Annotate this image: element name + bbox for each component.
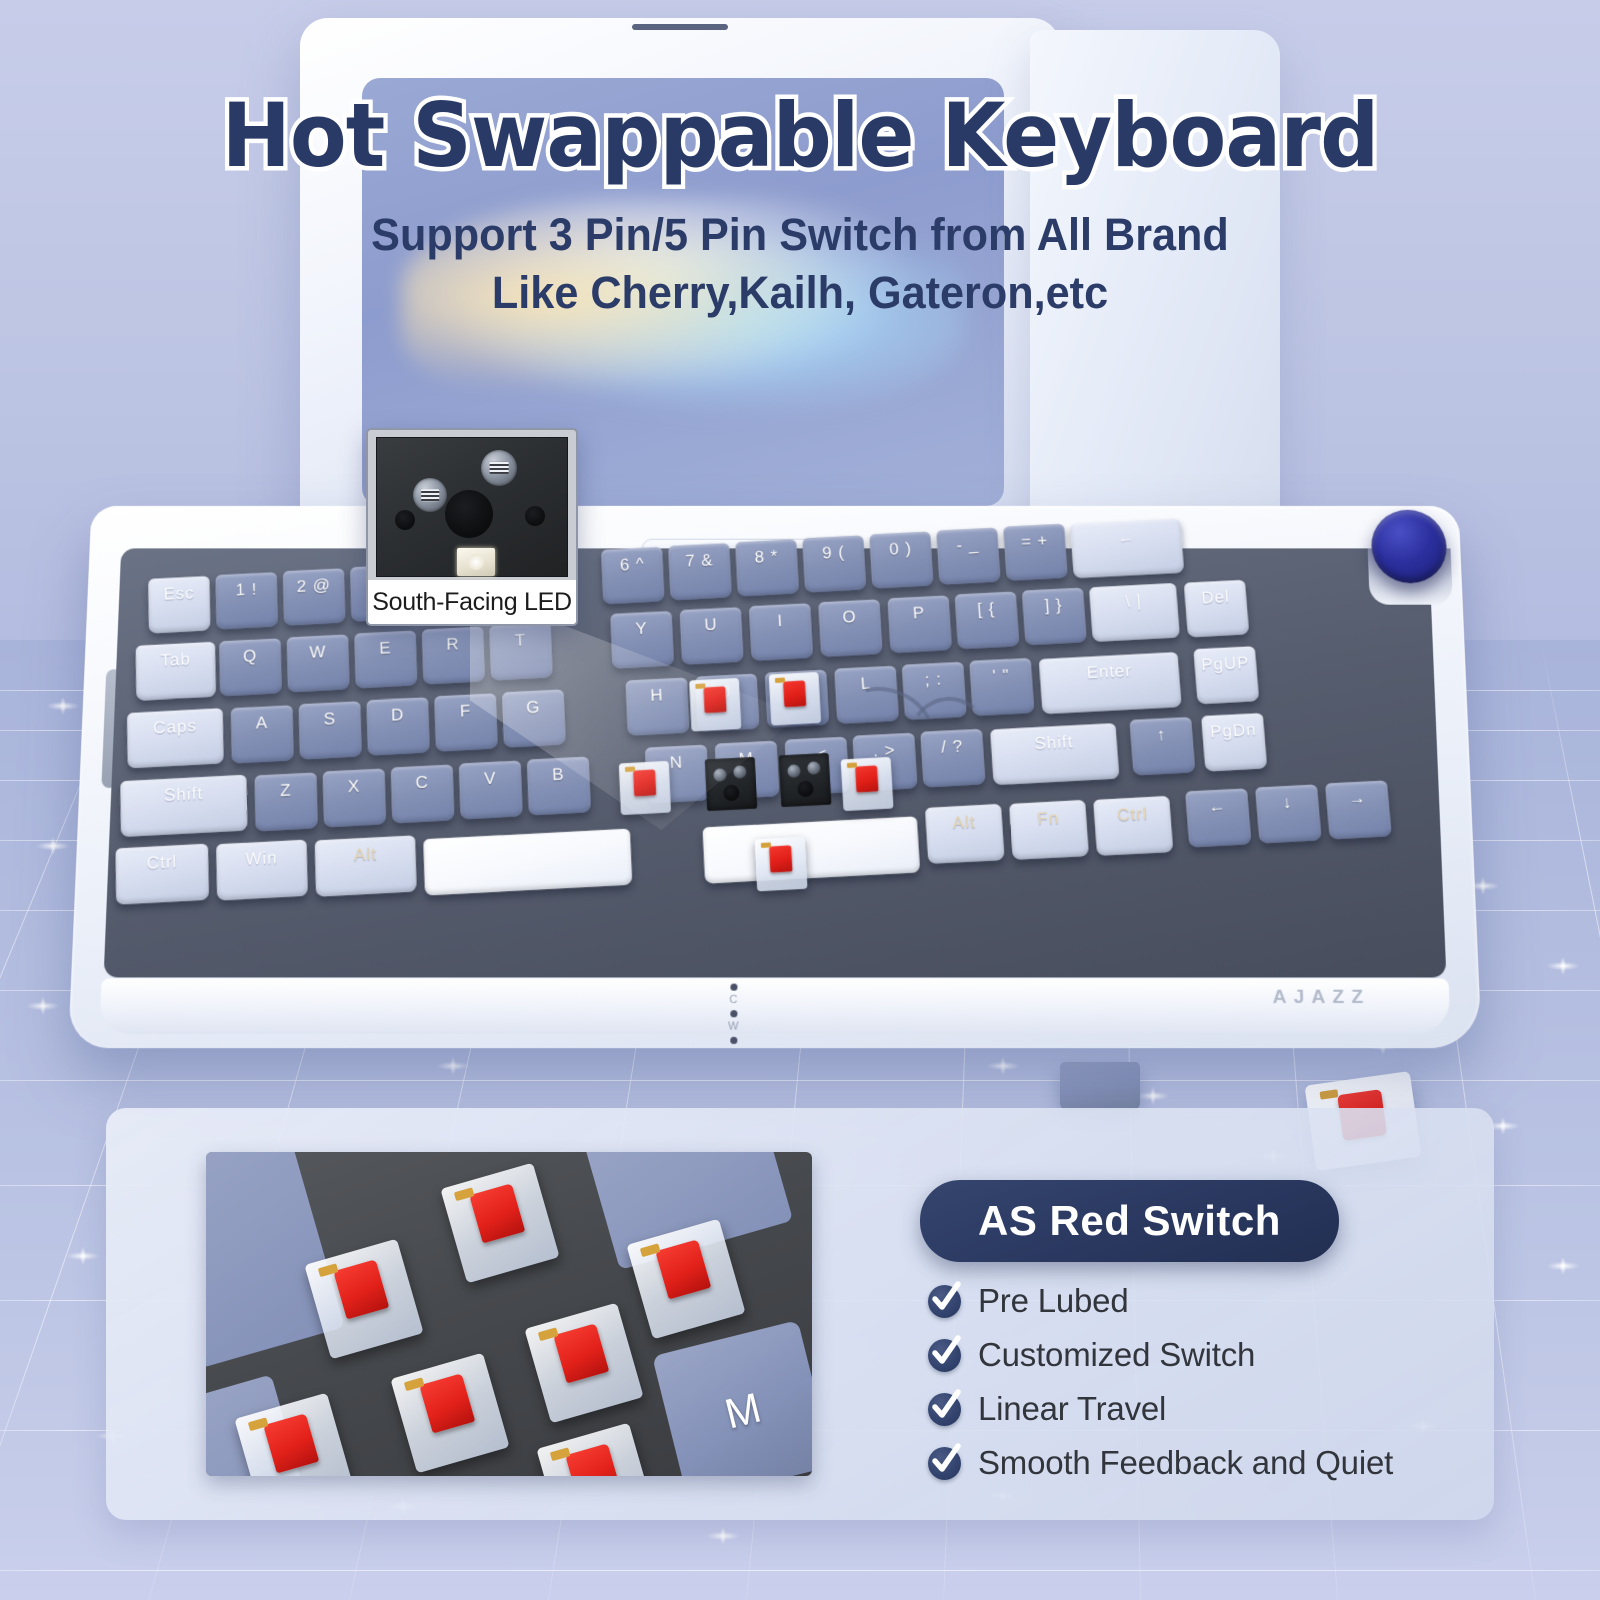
feature-item: Linear Travel: [928, 1390, 1468, 1428]
keycap-label: N: [669, 753, 683, 774]
photo-keycap-m: M: [652, 1320, 812, 1476]
keycap-u[interactable]: U: [680, 607, 744, 665]
keycap-ctrl[interactable]: Ctrl: [116, 844, 209, 905]
keycap-label: Ctrl: [147, 852, 178, 874]
subheadline: Support 3 Pin/5 Pin Switch from All Bran…: [32, 206, 1568, 321]
led-chip-icon: [457, 548, 495, 576]
pcb-socket-photo-icon: [376, 437, 568, 577]
keycap-t[interactable]: T: [489, 623, 553, 681]
keycap-label: Del: [1201, 587, 1231, 608]
keycap-o[interactable]: O: [818, 599, 883, 657]
keycap-label: 0 ): [889, 539, 913, 559]
stabilizer-hole-icon: [525, 506, 545, 526]
keycap-alt[interactable]: Alt: [925, 804, 1005, 864]
feature-item: Customized Switch: [928, 1336, 1468, 1374]
headline-block: Hot Swappable Keyboard Support 3 Pin/5 P…: [0, 92, 1600, 321]
empty-hotswap-socket: [705, 757, 758, 811]
keycap-label: ] }: [1044, 595, 1063, 615]
keycap-7[interactable]: 7 &: [668, 543, 732, 600]
photo-red-switch: [524, 1303, 643, 1424]
keycap-[interactable]: ; :: [902, 662, 967, 720]
keycap-label: H: [650, 686, 664, 706]
keycap-label: = +: [1020, 531, 1048, 552]
keycap-i[interactable]: I: [749, 603, 813, 661]
keycap-[interactable]: ←: [1070, 519, 1184, 579]
page-title: Hot Swappable Keyboard: [48, 92, 1552, 180]
keycap-caps[interactable]: Caps: [127, 708, 224, 768]
keycap-[interactable]: →: [1325, 780, 1392, 839]
keycap-p[interactable]: P: [887, 595, 952, 653]
keycap-label: Caps: [153, 716, 197, 738]
keycap-label: Win: [245, 848, 278, 870]
keycap-x[interactable]: X: [323, 768, 387, 827]
keycap-label: P: [912, 603, 925, 623]
keycap-9[interactable]: 9 (: [802, 535, 866, 592]
keycap-label: V: [484, 769, 497, 790]
keycap-spacebar[interactable]: [423, 829, 632, 896]
keycap-y[interactable]: Y: [610, 611, 674, 669]
indicator-label-win: W: [728, 1021, 739, 1032]
keycap-label: Q: [243, 646, 258, 666]
keycap-label: Fn: [1037, 808, 1060, 829]
keycap-label: X: [348, 777, 361, 798]
keycap-label: 9 (: [822, 543, 846, 563]
exposed-red-switch: [689, 678, 741, 732]
exposed-red-switch: [619, 761, 671, 815]
keycap-s[interactable]: S: [299, 701, 362, 760]
keycap-g[interactable]: G: [502, 689, 566, 747]
empty-hotswap-socket: [779, 753, 832, 807]
keycap-label: I: [777, 611, 784, 631]
keycap-label: ←: [1208, 796, 1228, 817]
keycap-label: D: [391, 705, 405, 725]
keycap-l[interactable]: L: [834, 666, 899, 724]
exposed-red-switch: [841, 757, 894, 811]
keycap-label: Alt: [952, 812, 976, 833]
keycap-label: PgDn: [1209, 720, 1257, 742]
keycap-8[interactable]: 8 *: [735, 539, 799, 596]
stabilizer-hole-icon: [395, 510, 415, 530]
keycap-6[interactable]: 6 ^: [601, 547, 665, 604]
keycap-label: A: [256, 713, 269, 733]
keycap-win[interactable]: Win: [216, 840, 308, 901]
keycap-h[interactable]: H: [625, 678, 689, 736]
switch-socket-icon: [481, 450, 517, 486]
keycap-label: →: [1348, 788, 1368, 809]
keycap-ctrl[interactable]: Ctrl: [1093, 796, 1173, 856]
keycap-esc[interactable]: Esc: [148, 576, 210, 634]
feature-label: Smooth Feedback and Quiet: [978, 1444, 1393, 1482]
keycap-label: L: [860, 674, 872, 694]
keycap-[interactable]: ↑: [1129, 717, 1195, 776]
check-icon: [928, 1285, 961, 1318]
keyboard-product: AJAZZ Esc1 !2 @3 #4 $5 %6 ^7 &8 *9 (0 )-…: [62, 470, 1482, 1070]
keycap-label: G: [526, 697, 541, 717]
keycap-del[interactable]: Del: [1184, 580, 1250, 638]
keycap-alt[interactable]: Alt: [315, 835, 417, 897]
keycap-[interactable]: [ {: [955, 591, 1020, 649]
check-icon: [928, 1447, 961, 1480]
feature-label: Pre Lubed: [978, 1282, 1129, 1320]
keycap-label: ←: [1117, 528, 1136, 548]
keyboard-case: AJAZZ Esc1 !2 @3 #4 $5 %6 ^7 &8 *9 (0 )-…: [68, 506, 1482, 1048]
keycap-shift[interactable]: Shift: [990, 723, 1119, 785]
keycap-label: R: [446, 635, 460, 655]
keycap-label: ' ": [992, 666, 1010, 687]
keycap-b[interactable]: B: [527, 757, 591, 816]
keycap-label: - _: [956, 535, 980, 555]
keycap-pgdn[interactable]: PgDn: [1201, 713, 1267, 772]
keycap-label: \ |: [1125, 592, 1143, 612]
keycap-enter[interactable]: Enter: [1039, 652, 1182, 714]
keycap-label: W: [309, 642, 326, 662]
keycap-label: Z: [280, 781, 292, 802]
keycap-label: Y: [635, 619, 648, 639]
feature-label: Customized Switch: [978, 1336, 1255, 1374]
keycap-[interactable]: / ?: [920, 729, 985, 788]
keycap-label: F: [460, 701, 472, 721]
feature-item: Smooth Feedback and Quiet: [928, 1444, 1468, 1482]
keycap-1[interactable]: 1 !: [215, 572, 277, 630]
keycap-[interactable]: ↓: [1255, 784, 1322, 843]
keycap-label: Tab: [160, 650, 191, 671]
keycap-pgup[interactable]: PgUP: [1193, 646, 1259, 704]
subheadline-line-1: Support 3 Pin/5 Pin Switch from All Bran…: [32, 206, 1568, 264]
keycap-label: U: [704, 615, 718, 635]
keycap-label: ; :: [924, 670, 942, 691]
keycap-0[interactable]: 0 ): [869, 531, 933, 588]
keycap-e[interactable]: E: [354, 630, 417, 688]
keycap-2[interactable]: 2 @: [283, 568, 346, 626]
keycap-label: Alt: [354, 844, 378, 865]
subheadline-line-2: Like Cherry,Kailh, Gateron,etc: [32, 264, 1568, 322]
keycap-label: O: [842, 607, 857, 627]
keycap-a[interactable]: A: [231, 705, 294, 764]
case-front-lip: AJAZZ: [99, 978, 1450, 1033]
keycap-fn[interactable]: Fn: [1009, 800, 1089, 860]
check-icon: [928, 1393, 961, 1426]
keycap-label: 2 @: [297, 576, 332, 597]
feature-label: Linear Travel: [978, 1390, 1166, 1428]
keycap-q[interactable]: Q: [219, 638, 282, 696]
switch-name-badge: AS Red Switch: [920, 1180, 1339, 1262]
exposed-red-switch: [769, 672, 821, 726]
switch-socket-icon: [413, 478, 447, 512]
feature-item: Pre Lubed: [928, 1282, 1468, 1320]
keycap-label: T: [514, 631, 526, 651]
keycap-[interactable]: ←: [1185, 788, 1251, 847]
indicator-led: [730, 984, 737, 991]
keycap-shift[interactable]: Shift: [120, 775, 247, 837]
keycap-w[interactable]: W: [287, 634, 350, 692]
indicator-label-caps: C: [729, 995, 737, 1006]
keycap-v[interactable]: V: [459, 760, 523, 819]
keycap-label: B: [552, 765, 565, 786]
brand-logo: AJAZZ: [1272, 987, 1370, 1009]
indicator-led: [730, 1010, 737, 1017]
keycap-d[interactable]: D: [366, 697, 429, 756]
keycap-spacebar[interactable]: [702, 816, 920, 883]
keycap-[interactable]: ] }: [1022, 588, 1087, 646]
keycap-tab[interactable]: Tab: [136, 642, 216, 701]
keycap-label: E: [379, 639, 392, 659]
check-icon: [928, 1339, 961, 1372]
exposed-red-switch: [755, 837, 808, 892]
keycap-label: [ {: [977, 599, 996, 619]
keycap-label: Shift: [1034, 732, 1074, 754]
monitor-notch: [632, 24, 728, 30]
keycap-[interactable]: = +: [1003, 524, 1068, 581]
keycap-[interactable]: ' ": [969, 658, 1034, 716]
keycap-label: 6 ^: [619, 555, 645, 576]
keycap-label: PgUP: [1201, 653, 1251, 675]
keycap-label: S: [323, 709, 336, 729]
switch-closeup-photo: M: [206, 1152, 812, 1476]
photo-red-switch: [390, 1353, 509, 1474]
south-facing-led-callout: South-Facing LED: [366, 428, 578, 626]
photo-red-switch: [536, 1423, 655, 1476]
callout-label: South-Facing LED: [368, 580, 576, 624]
keycap-label: Enter: [1086, 661, 1133, 683]
keycap-label: Shift: [164, 784, 203, 806]
center-pin-hole-icon: [445, 490, 493, 538]
keycap-label: 8 *: [754, 547, 778, 568]
keycap-[interactable]: - _: [936, 528, 1001, 585]
keycap-[interactable]: \ |: [1089, 583, 1180, 642]
keycap-label: 7 &: [685, 551, 714, 572]
keycap-label: Ctrl: [1116, 804, 1148, 826]
keycap-z[interactable]: Z: [254, 772, 317, 831]
keycap-label: 1 !: [235, 580, 257, 601]
feature-list: Pre LubedCustomized SwitchLinear TravelS…: [928, 1282, 1468, 1498]
keycap-label: ↓: [1282, 793, 1293, 813]
keycap-r[interactable]: R: [422, 627, 485, 685]
keycap-label: / ?: [941, 737, 964, 758]
keycap-label: C: [415, 773, 429, 794]
indicator-led: [730, 1037, 737, 1044]
keycap-f[interactable]: F: [434, 693, 498, 751]
keycap-label: ↑: [1156, 725, 1167, 745]
keycap-label: Esc: [163, 583, 194, 604]
keycap-c[interactable]: C: [391, 764, 455, 823]
photo-red-switch: [440, 1163, 559, 1284]
status-indicators: C W: [719, 984, 748, 1044]
